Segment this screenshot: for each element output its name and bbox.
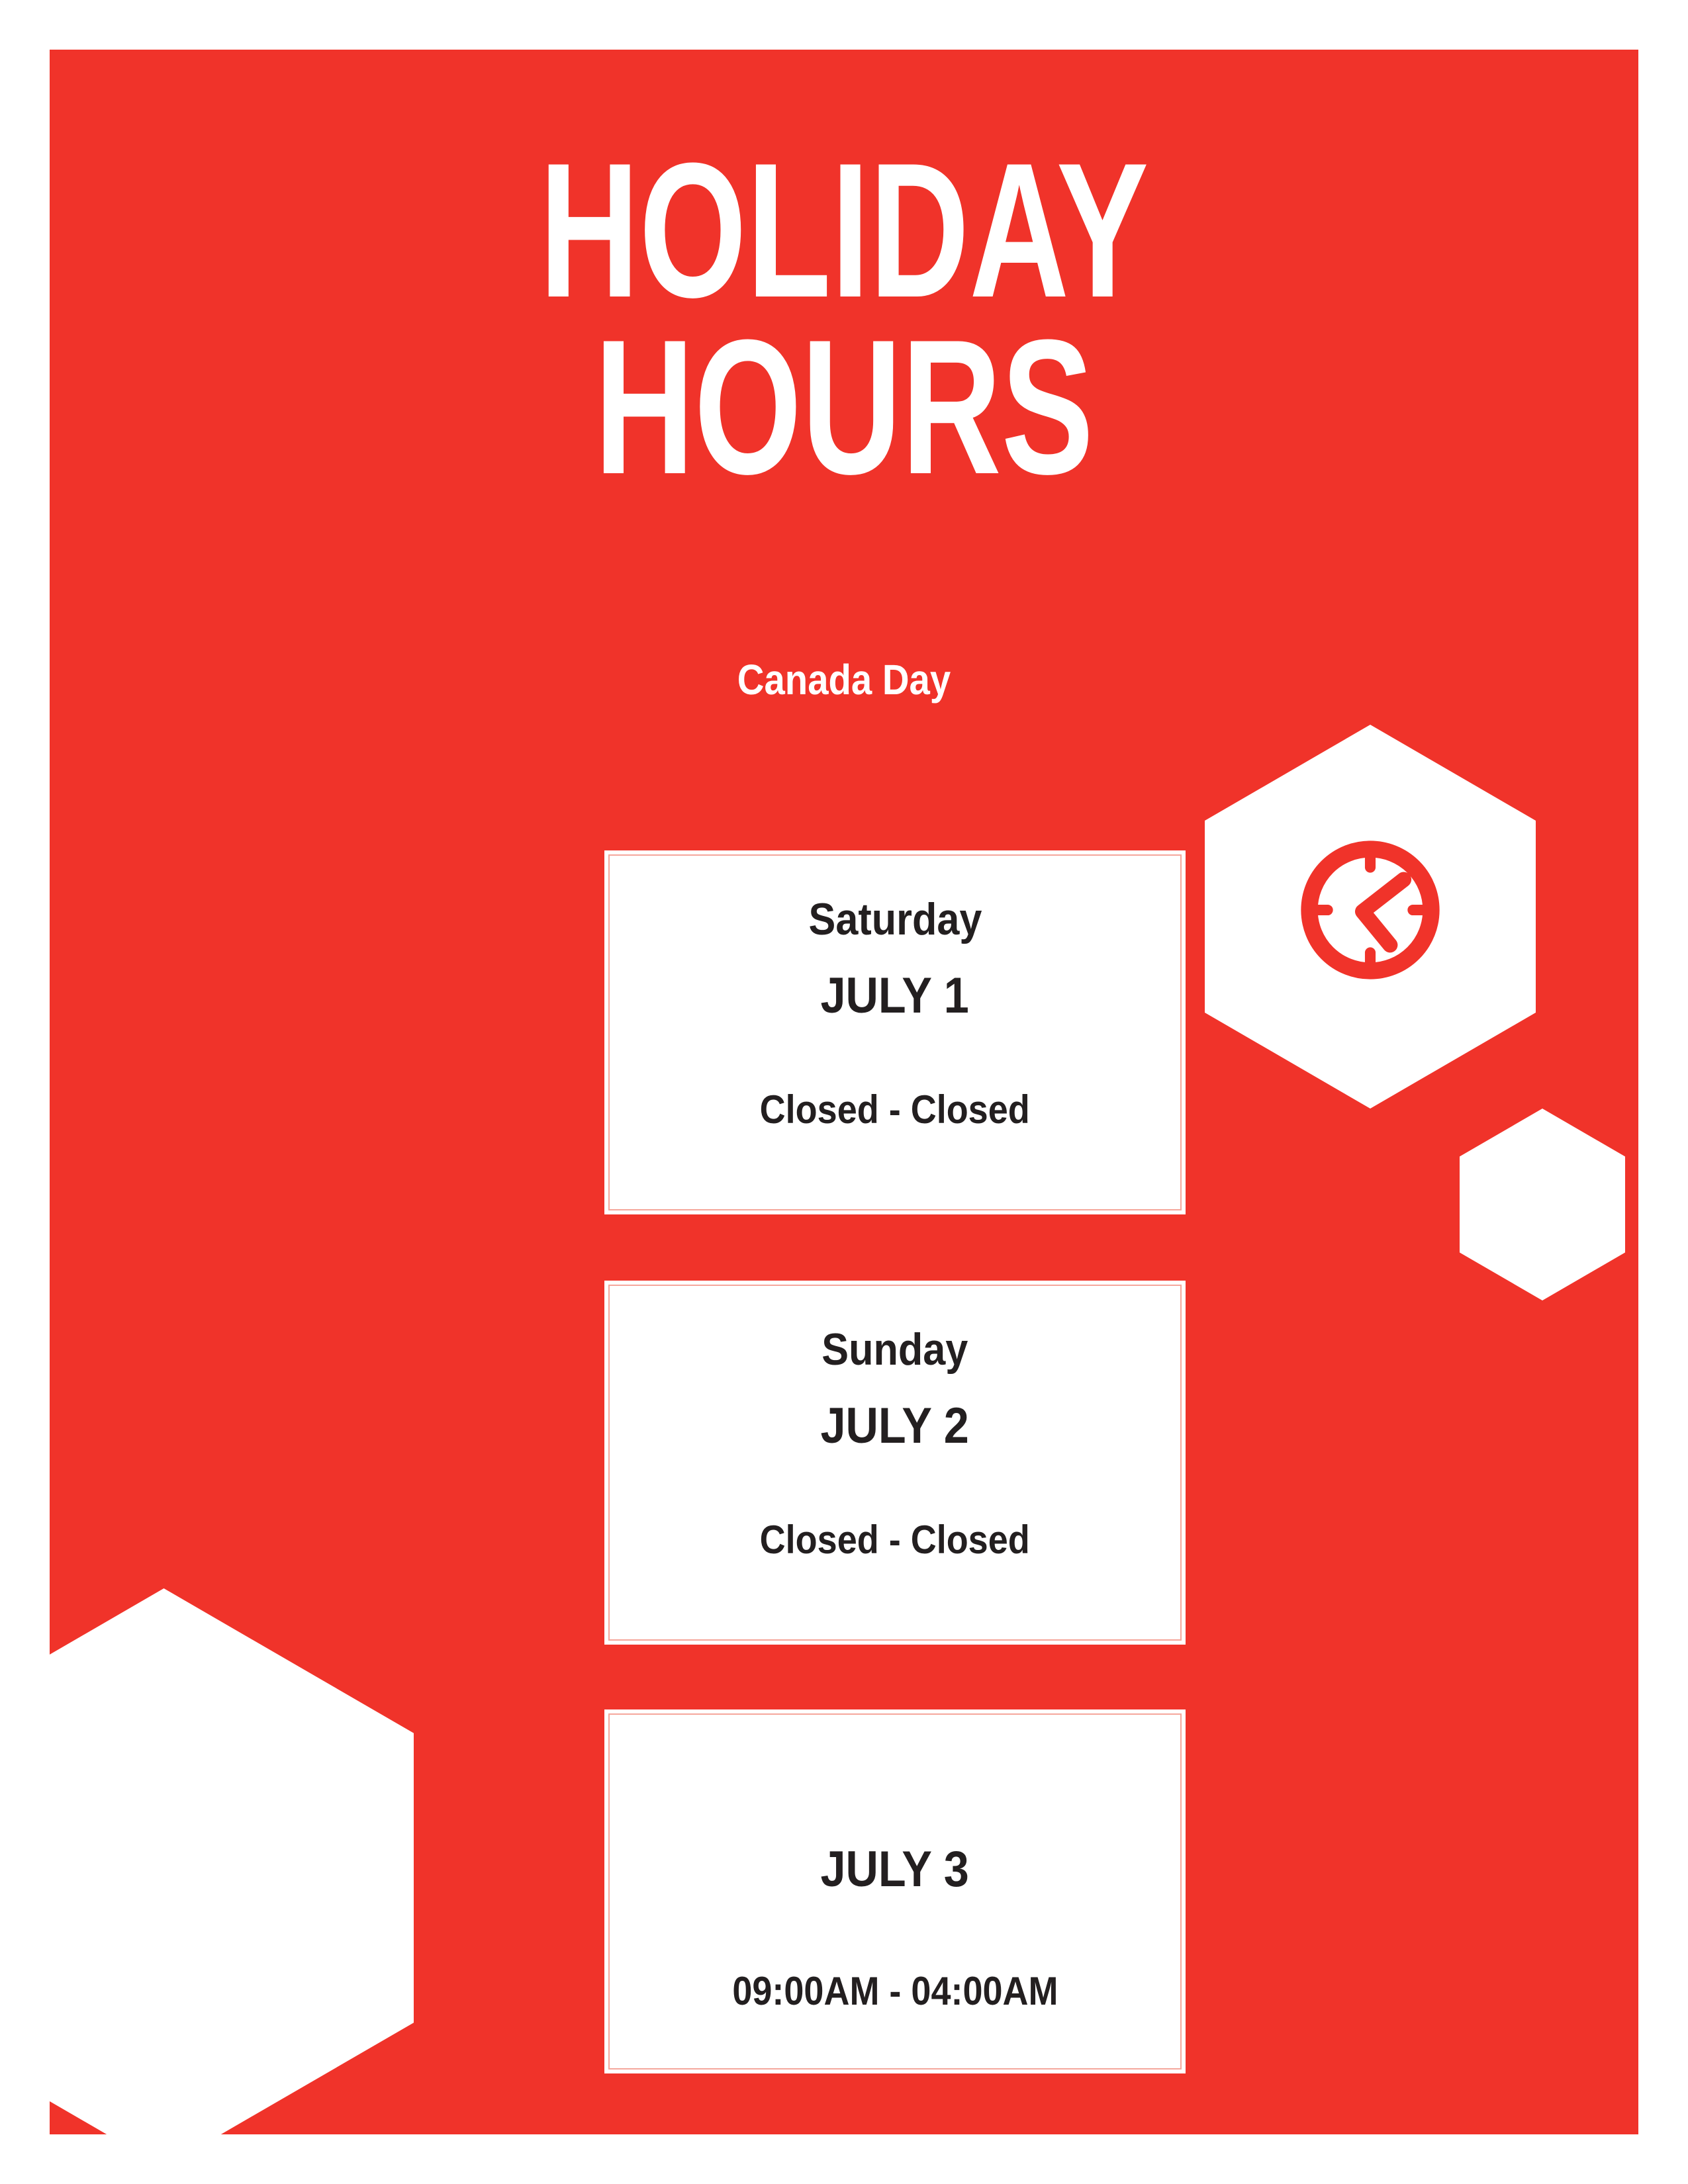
day-card: JULY 3 09:00AM - 04:00AM: [604, 1709, 1186, 2073]
day-weekday: Saturday: [808, 897, 982, 942]
page-title: HOLIDAY HOURS: [99, 142, 1589, 496]
day-hours: Closed - Closed: [760, 1090, 1030, 1130]
day-hours: 09:00AM - 04:00AM: [732, 1972, 1058, 2011]
day-card: Sunday JULY 2 Closed - Closed: [604, 1281, 1186, 1645]
hexagon-shape-corner-icon: [50, 1588, 414, 2134]
clock-icon: [1294, 834, 1446, 986]
day-card-inner: JULY 3 09:00AM - 04:00AM: [608, 1713, 1182, 2070]
day-hours: Closed - Closed: [760, 1520, 1030, 1560]
hexagon-shape-small-icon: [1460, 1109, 1625, 1300]
day-card-inner: Sunday JULY 2 Closed - Closed: [608, 1285, 1182, 1641]
poster-subtitle: Canada Day: [189, 659, 1499, 701]
holiday-hours-poster: HOLIDAY HOURS Canada Day Saturday JULY 1…: [50, 50, 1638, 2134]
day-weekday: Sunday: [821, 1327, 968, 1372]
headline-line-2: HOURS: [308, 319, 1380, 496]
day-date: JULY 2: [821, 1401, 969, 1451]
day-card-inner: Saturday JULY 1 Closed - Closed: [608, 854, 1182, 1210]
headline-line-1: HOLIDAY: [308, 142, 1380, 319]
day-card: Saturday JULY 1 Closed - Closed: [604, 850, 1186, 1214]
day-date: JULY 3: [821, 1844, 969, 1895]
day-date: JULY 1: [821, 971, 969, 1021]
